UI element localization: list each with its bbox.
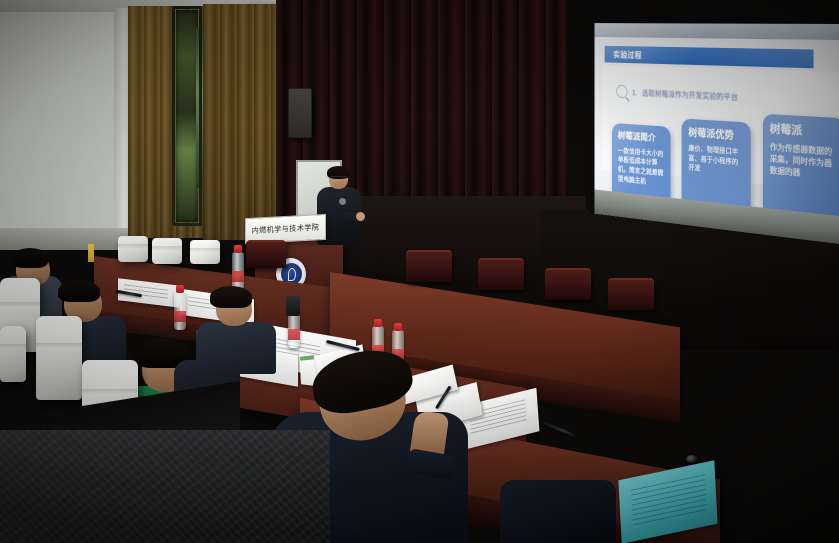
gold-curtain-right (203, 4, 281, 240)
empty-chair (406, 250, 452, 282)
glasses-icon (330, 176, 347, 181)
wall-base-strip (0, 228, 136, 250)
card-body: 作为传感器数据的采集，同时作为器数据的器 (770, 141, 837, 183)
card-heading: 树莓派优势 (688, 127, 743, 143)
presenter-hand (356, 212, 365, 221)
wall-speaker-icon (288, 88, 312, 138)
carpet-floor (0, 430, 330, 543)
slide-title: 实验过程 (613, 49, 641, 61)
presenter-shirt-logo (339, 198, 346, 205)
card-heading: 树莓派 (770, 123, 837, 141)
slide-bullet-row: 1. 选取树莓派作为开发实验的平台 (616, 85, 738, 104)
empty-chair (246, 240, 286, 268)
projection-screen: 实验过程 1. 选取树莓派作为开发实验的平台 树莓派简介 一款信用卡大小的单板低… (590, 18, 839, 244)
screen-surface: 实验过程 1. 选取树莓派作为开发实验的平台 树莓派简介 一款信用卡大小的单板低… (595, 23, 839, 216)
meeting-room-photo: 实验过程 1. 选取树莓派作为开发实验的平台 树莓派简介 一款信用卡大小的单板低… (0, 0, 839, 543)
empty-chair (478, 258, 524, 290)
pen (541, 421, 579, 438)
magnifier-icon (616, 85, 627, 99)
audience-torso (500, 480, 616, 543)
water-bottle (174, 292, 186, 330)
slide-card: 树莓派 作为传感器数据的采集，同时作为器数据的器 (763, 114, 839, 216)
seat-cover (36, 316, 82, 400)
water-bottle (232, 252, 244, 290)
slide-title-bar: 实验过程 (605, 46, 814, 68)
audience-hair (12, 248, 48, 268)
seat-cover (190, 240, 220, 264)
seat-cover (0, 326, 26, 382)
audience-member (500, 470, 620, 543)
table-grommet (686, 455, 697, 463)
slide-bullet-text: 选取树莓派作为开发实验的平台 (642, 87, 738, 102)
audience-hair (58, 280, 100, 302)
audience-hair (210, 286, 252, 308)
seat-cover (118, 236, 148, 262)
slide-body: 1. 选取树莓派作为开发实验的平台 树莓派简介 一款信用卡大小的单板低成本计算机… (602, 65, 839, 192)
card-body: 一款信用卡大小的单板低成本计算机，简言之就是微型电脑主机 (618, 146, 665, 189)
yellow-marker (88, 244, 94, 262)
seat-cover (152, 238, 182, 264)
booklet-text-lines (631, 474, 707, 529)
empty-chair (608, 278, 654, 310)
card-body: 廉价、物理接口丰富、易于小程序的开发 (688, 143, 743, 178)
window-glass (176, 10, 198, 222)
slide-bullet-number: 1. (632, 88, 637, 97)
left-wall-panel (0, 12, 128, 240)
placard-text: 内燃机学与技术学院 (252, 222, 320, 236)
empty-chair (545, 268, 591, 300)
slide-top-band (595, 23, 839, 40)
card-heading: 树莓派简介 (618, 131, 665, 145)
dark-mug (286, 296, 300, 316)
